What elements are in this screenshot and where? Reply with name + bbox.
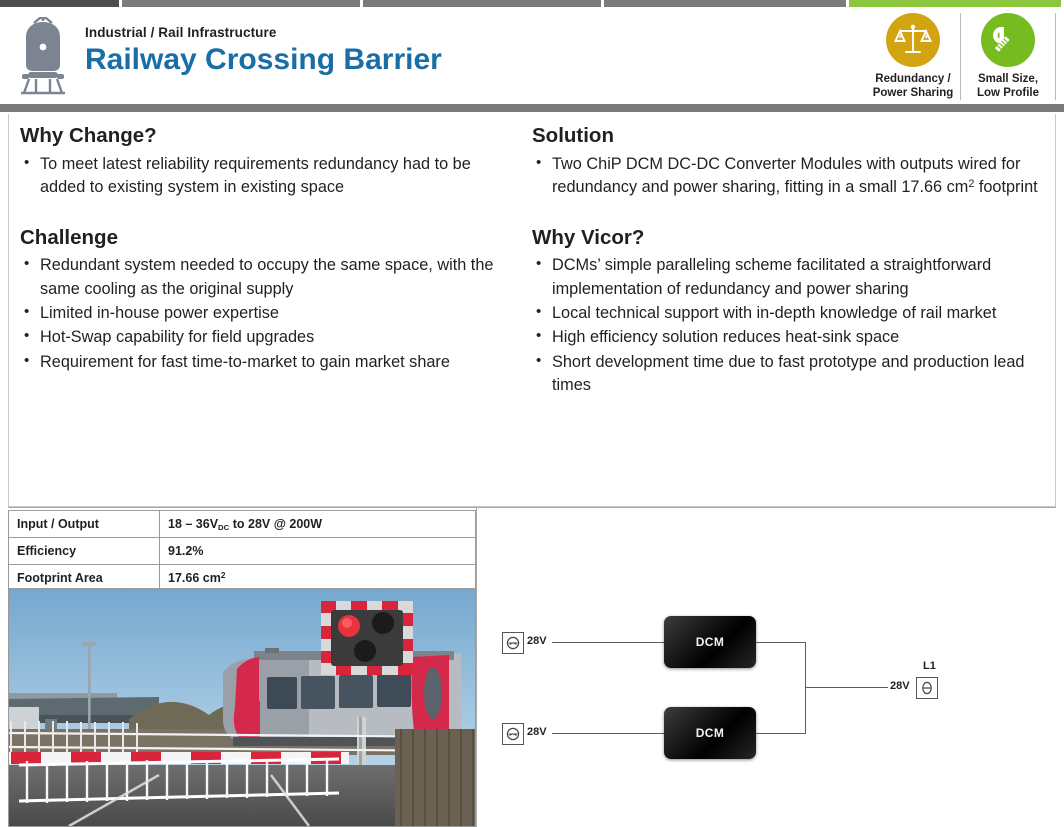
page-title: Railway Crossing Barrier xyxy=(85,44,442,76)
list-item: Two ChiP DCM DC-DC Converter Modules wit… xyxy=(532,153,1042,200)
dcm-module-label: DCM xyxy=(696,635,725,649)
header-titles: Industrial / Rail Infrastructure Railway… xyxy=(85,25,442,76)
train-front-icon xyxy=(12,17,74,95)
wire-dcm2-out xyxy=(756,733,806,734)
table-row: Input / Output 18 – 36VDC to 28V @ 200W xyxy=(9,511,476,538)
list-item: To meet latest reliability requirements … xyxy=(20,153,506,200)
dcm-module-label: DCM xyxy=(696,726,725,740)
list-item: Requirement for fast time-to-market to g… xyxy=(20,351,506,374)
benefit-label-line2: Power Sharing xyxy=(873,87,954,99)
benefit-label-line1: Redundancy / xyxy=(875,73,950,85)
source-symbol-1 xyxy=(502,632,524,654)
column-right: Solution Two ChiP DCM DC-DC Converter Mo… xyxy=(520,118,1056,503)
wire-bus-to-load xyxy=(805,687,888,688)
section-heading-why-change: Why Change? xyxy=(20,124,506,149)
caliper-wrench-icon xyxy=(981,13,1035,67)
bullet-list-challenge: Redundant system needed to occupy the sa… xyxy=(20,254,506,374)
wire-dcm1-out xyxy=(756,642,806,643)
spec-table: Input / Output 18 – 36VDC to 28V @ 200W … xyxy=(8,510,476,592)
spec-key: Efficiency xyxy=(9,538,160,565)
system-block-diagram: 28V 28V DCM DCM 28V L1 xyxy=(478,508,1064,827)
list-item: Short development time due to fast proto… xyxy=(532,351,1042,398)
bullet-list-why-vicor: DCMs’ simple paralleling scheme facilita… xyxy=(532,254,1042,398)
dcm-module-2: DCM xyxy=(664,707,756,759)
page-header: Industrial / Rail Infrastructure Railway… xyxy=(0,7,1064,105)
slide-page: Industrial / Rail Infrastructure Railway… xyxy=(0,0,1064,827)
section-heading-challenge: Challenge xyxy=(20,226,506,251)
balance-scale-icon xyxy=(886,13,940,67)
spec-value: 91.2% xyxy=(160,538,476,565)
benefit-label-line1: Small Size, xyxy=(978,73,1038,85)
header-divider-band xyxy=(0,104,1064,112)
topbar-segment-1 xyxy=(0,0,119,7)
benefit-redundancy-power-sharing: Redundancy / Power Sharing xyxy=(866,13,960,100)
list-item: Hot-Swap capability for field upgrades xyxy=(20,326,506,349)
benefits-group: Redundancy / Power Sharing xyxy=(866,13,1056,100)
list-item: Local technical support with in-depth kn… xyxy=(532,302,1042,325)
source-label-1: 28V xyxy=(527,635,547,647)
list-item: Redundant system needed to occupy the sa… xyxy=(20,254,506,301)
output-voltage-label: 28V xyxy=(890,680,910,692)
table-row: Efficiency 91.2% xyxy=(9,538,476,565)
railway-crossing-photo xyxy=(8,588,476,827)
list-item: High efficiency solution reduces heat-si… xyxy=(532,326,1042,349)
benefit-small-size-low-profile: Small Size, Low Profile xyxy=(960,13,1056,100)
list-item: Limited in-house power expertise xyxy=(20,302,506,325)
section-heading-why-vicor: Why Vicor? xyxy=(532,226,1042,251)
section-heading-solution: Solution xyxy=(532,124,1042,149)
bullet-list-solution: Two ChiP DCM DC-DC Converter Modules wit… xyxy=(532,153,1042,200)
top-accent-bar xyxy=(0,0,1064,7)
topbar-segment-2 xyxy=(122,0,360,7)
wire-source1-to-dcm1 xyxy=(552,642,664,643)
wire-source2-to-dcm2 xyxy=(552,733,664,734)
benefit-label-redundancy: Redundancy / Power Sharing xyxy=(867,72,960,100)
topbar-segment-green xyxy=(849,0,1061,7)
benefit-label-line2: Low Profile xyxy=(977,87,1039,99)
topbar-segment-3 xyxy=(363,0,601,7)
load-symbol-l1 xyxy=(916,677,938,699)
benefit-label-small-size: Small Size, Low Profile xyxy=(971,72,1045,100)
source-label-2: 28V xyxy=(527,726,547,738)
dcm-module-1: DCM xyxy=(664,616,756,668)
spec-key: Input / Output xyxy=(9,511,160,538)
content-columns: Why Change? To meet latest reliability r… xyxy=(8,118,1056,503)
column-left: Why Change? To meet latest reliability r… xyxy=(8,118,520,503)
list-item: DCMs’ simple paralleling scheme facilita… xyxy=(532,254,1042,301)
spec-value: 18 – 36VDC to 28V @ 200W xyxy=(160,511,476,538)
source-symbol-2 xyxy=(502,723,524,745)
breadcrumb: Industrial / Rail Infrastructure xyxy=(85,25,442,40)
bullet-list-why-change: To meet latest reliability requirements … xyxy=(20,153,506,200)
topbar-segment-4 xyxy=(604,0,846,7)
load-designator-label: L1 xyxy=(923,660,936,672)
lower-vertical-divider xyxy=(476,507,477,827)
